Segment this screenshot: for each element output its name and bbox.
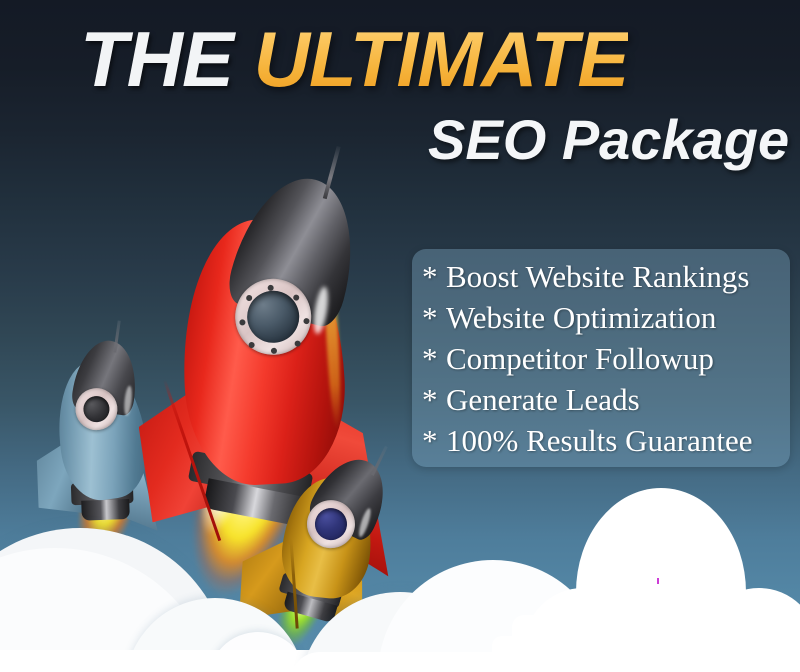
feature-item: *Boost Website Rankings [414, 256, 794, 297]
feature-label: Boost Website Rankings [446, 259, 750, 294]
feature-item: *Generate Leads [414, 379, 794, 420]
gold-rocket [244, 447, 431, 672]
bullet-star-icon: * [422, 297, 446, 338]
feature-label: Website Optimization [446, 300, 716, 335]
feature-label: Generate Leads [446, 382, 640, 417]
feature-item: *Competitor Followup [414, 338, 794, 379]
bullet-star-icon: * [422, 256, 446, 297]
title-word-the: THE [80, 15, 233, 103]
page-title-line-1: THE ULTIMATE [80, 20, 628, 98]
seo-package-poster: THE ULTIMATE SEO Package *Boost Website … [0, 0, 800, 672]
bullet-star-icon: * [422, 338, 446, 379]
page-title-line-2: SEO Package [428, 112, 789, 168]
feature-label: Competitor Followup [446, 341, 714, 376]
bullet-star-icon: * [422, 379, 446, 420]
feature-item: *Website Optimization [414, 297, 794, 338]
feature-label: 100% Results Guarantee [446, 423, 752, 458]
feature-list: *Boost Website Rankings *Website Optimiz… [414, 256, 794, 461]
feature-item: *100% Results Guarantee [414, 420, 794, 461]
bullet-star-icon: * [422, 420, 446, 461]
title-word-ultimate: ULTIMATE [254, 15, 629, 103]
blue-rocket-nozzle [81, 499, 130, 521]
